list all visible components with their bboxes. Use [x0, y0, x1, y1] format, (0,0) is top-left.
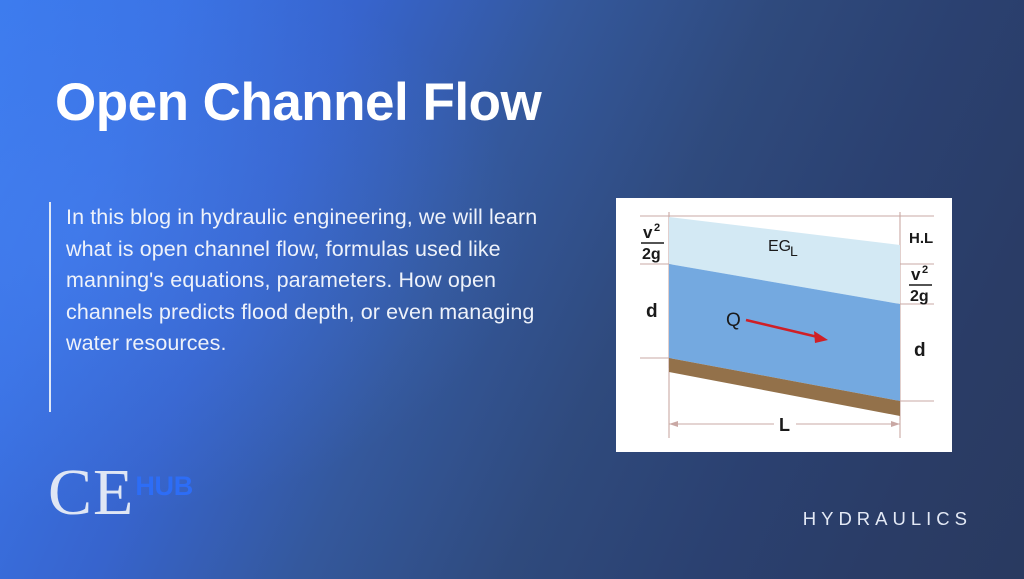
page-title: Open Channel Flow — [55, 72, 541, 133]
velocity-head-left-v: v — [643, 223, 653, 242]
footer-category-label: HYDRAULICS — [803, 508, 972, 530]
logo-mark-ce: CE — [48, 462, 134, 524]
velocity-head-right-exp: 2 — [922, 264, 928, 276]
length-label: L — [779, 415, 790, 435]
velocity-head-left-exp: 2 — [654, 222, 660, 234]
intro-paragraph: In this blog in hydraulic engineering, w… — [51, 202, 559, 412]
egl-label-main: EG — [768, 238, 791, 255]
head-loss-label: H.L — [909, 230, 933, 247]
egl-label-sub: L — [790, 243, 798, 259]
brand-logo[interactable]: CE HUB — [48, 462, 193, 524]
open-channel-diagram: v 2 2g d EG L Q H.L v 2 2g — [616, 198, 952, 452]
depth-label-left: d — [646, 301, 658, 322]
intro-block: In this blog in hydraulic engineering, w… — [49, 202, 559, 412]
velocity-head-right-denom: 2g — [910, 288, 929, 305]
open-channel-diagram-panel: v 2 2g d EG L Q H.L v 2 2g — [616, 198, 952, 452]
discharge-label: Q — [726, 310, 741, 331]
label-velocity-head-right: v 2 2g — [909, 264, 932, 305]
depth-label-right: d — [914, 340, 926, 361]
accent-bar — [49, 202, 51, 412]
logo-mark-hub: HUB — [135, 471, 193, 502]
velocity-head-left-denom: 2g — [642, 246, 661, 263]
slide-canvas: Open Channel Flow In this blog in hydrau… — [0, 0, 1024, 579]
velocity-head-right-v: v — [911, 265, 921, 284]
label-velocity-head-left: v 2 2g — [641, 222, 664, 263]
